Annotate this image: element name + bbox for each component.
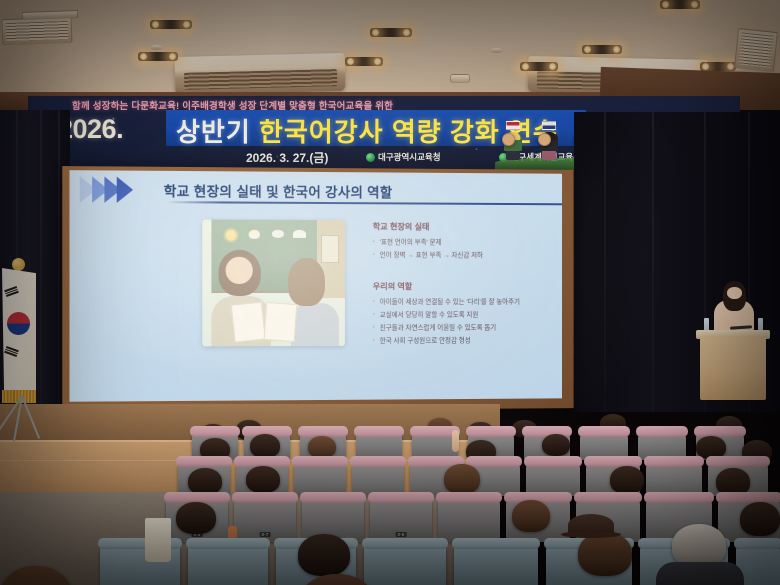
bullet-item: '표현 언어의 부족' 문제 xyxy=(373,237,483,250)
audience-head xyxy=(512,500,550,532)
seat-headrest xyxy=(716,492,780,503)
audience-head xyxy=(308,436,336,458)
seat-headrest xyxy=(368,492,434,503)
seat-headrest xyxy=(524,456,582,467)
tote-bag xyxy=(145,518,171,562)
seat-headrest xyxy=(232,492,298,503)
raised-hand xyxy=(452,430,459,452)
curtain-fold xyxy=(652,112,654,412)
trigram-gon xyxy=(4,346,19,357)
seat-headrest xyxy=(734,538,780,549)
ceiling-spotlight-5 xyxy=(582,45,622,54)
auditorium-scene: 함께 성장하는 다문화교육! 이주배경학생 성장 단계별 맞춤형 한국어교육을 … xyxy=(0,0,780,585)
seat-headrest xyxy=(644,456,704,467)
trigram-geon xyxy=(4,286,19,297)
curtain-fold xyxy=(58,110,60,418)
seat[interactable] xyxy=(188,546,268,585)
smoke-detector-1 xyxy=(150,45,163,50)
bullet-item: 아이들이 세상과 연결될 수 있는 '다리'를 잘 놓아주기 xyxy=(373,297,520,310)
section-title: 우리의 역할 xyxy=(373,280,520,292)
seat-headrest xyxy=(452,538,540,549)
section-title: 학교 현장의 실태 xyxy=(373,220,483,232)
seat-headrest xyxy=(578,426,630,437)
slide-section-role: 우리의 역할 아이들이 세상과 연결될 수 있는 '다리'를 잘 놓아주기 교실… xyxy=(373,280,520,348)
flag-icon xyxy=(542,121,556,130)
seat-headrest xyxy=(636,426,688,437)
chevron-arrows-icon xyxy=(84,176,133,203)
slide-section-reality: 학교 현장의 실태 '표현 언어의 부족' 문제 언어 장벽 → 표현 부족 →… xyxy=(373,220,483,263)
flag-icon xyxy=(506,121,520,130)
head xyxy=(538,133,551,146)
seat-headrest xyxy=(644,492,714,503)
seat-number-plate: 0-8 xyxy=(396,532,407,537)
seat-headrest xyxy=(292,456,348,467)
bullet-item: 교실에서 당당히 말할 수 있도록 지원 xyxy=(373,310,520,323)
audience-head xyxy=(298,534,350,576)
seat[interactable] xyxy=(438,500,500,542)
legs xyxy=(542,151,556,160)
podium xyxy=(700,336,766,400)
photo-overlay xyxy=(202,219,345,346)
ac-unit-left xyxy=(175,53,346,95)
legs xyxy=(506,151,520,160)
seat-headrest xyxy=(436,492,502,503)
audience-head xyxy=(0,566,72,585)
section-bullet-list: 아이들이 세상과 연결될 수 있는 '다리'를 잘 놓아주기 교실에서 당당히 … xyxy=(373,297,520,348)
seat[interactable] xyxy=(454,546,538,585)
audience-seating: 0-6 0-7 0-8 0-9 xyxy=(0,406,780,585)
chevron-4 xyxy=(117,177,133,203)
curtain-fold xyxy=(604,112,606,412)
leaf-logo-icon xyxy=(366,153,375,162)
banner-date: 2026. 3. 27.(금) xyxy=(246,149,328,166)
banner-title-first: 상반기 xyxy=(176,117,251,147)
audience-head xyxy=(246,466,280,493)
seat-headrest xyxy=(300,492,366,503)
audience-head xyxy=(578,532,632,576)
ceiling-spotlight-2 xyxy=(138,52,178,61)
seat[interactable]: 0-7 xyxy=(234,500,296,542)
organization-item: 대구광역시교육청 xyxy=(366,151,441,163)
audience-shoulders xyxy=(656,562,744,585)
slide-photo xyxy=(202,219,345,346)
vent-grille xyxy=(6,21,69,41)
seat[interactable] xyxy=(364,546,446,585)
seat-headrest xyxy=(176,456,232,467)
seat-headrest xyxy=(350,456,406,467)
ac-slats xyxy=(183,69,336,90)
seat[interactable]: 0-8 xyxy=(370,500,432,542)
ceiling-speaker-box xyxy=(450,74,470,83)
bullet-item: 한국 사회 구성원으로 안정감 형성 xyxy=(373,335,520,348)
seat-headrest xyxy=(694,426,746,437)
audience-hat xyxy=(568,514,614,536)
banner-child-2 xyxy=(538,133,560,160)
audience-head xyxy=(610,466,644,494)
organization-name: 대구광역시교육청 xyxy=(378,151,441,163)
ceiling-spotlight-1 xyxy=(150,20,192,29)
ceiling-vent-left xyxy=(2,17,73,45)
seat-headrest xyxy=(584,456,642,467)
bullet-item: 친구들과 자연스럽게 어울릴 수 있도록 돕기 xyxy=(373,322,520,335)
slide-heading: 학교 현장의 실태 및 한국어 강사의 역할 xyxy=(164,180,393,201)
audience-head xyxy=(250,434,280,458)
ceiling-spotlight-7 xyxy=(660,0,700,9)
seat-headrest xyxy=(190,426,240,437)
seat-number-plate: 0-7 xyxy=(260,532,271,537)
seat-headrest xyxy=(466,456,522,467)
projection-screen: 학교 현장의 실태 및 한국어 강사의 역할 xyxy=(62,166,573,412)
seat-headrest xyxy=(354,426,404,437)
speaker-hair xyxy=(723,281,746,311)
audience-head xyxy=(542,434,570,456)
ceiling-spotlight-4 xyxy=(345,57,383,66)
audience-head xyxy=(740,502,780,536)
seat-headrest xyxy=(706,456,770,467)
ceiling-spotlight-6 xyxy=(520,62,558,71)
audience-head xyxy=(176,502,216,534)
seat-headrest xyxy=(362,538,448,549)
section-bullet-list: '표현 언어의 부족' 문제 언어 장벽 → 표현 부족 → 자신감 저하 xyxy=(373,237,483,263)
ceiling-spotlight-3 xyxy=(370,28,412,37)
banner-child-1 xyxy=(502,133,524,160)
heading-underline xyxy=(167,201,562,205)
audience-head xyxy=(444,464,480,494)
vent-grille xyxy=(738,32,773,67)
audience-head xyxy=(188,468,222,495)
seat-headrest xyxy=(466,426,516,437)
taeguk-symbol xyxy=(7,312,30,335)
seat-headrest xyxy=(186,538,270,549)
presentation-slide: 학교 현장의 실태 및 한국어 강사의 역할 xyxy=(69,170,561,402)
head xyxy=(502,133,515,146)
ceiling-vent-right xyxy=(734,28,778,72)
taegukgi-cloth xyxy=(2,268,36,396)
bullet-item: 언어 장벽 → 표현 부족 → 자신감 저하 xyxy=(373,250,483,263)
smoke-detector-2 xyxy=(490,48,503,53)
seat-headrest xyxy=(574,492,642,503)
